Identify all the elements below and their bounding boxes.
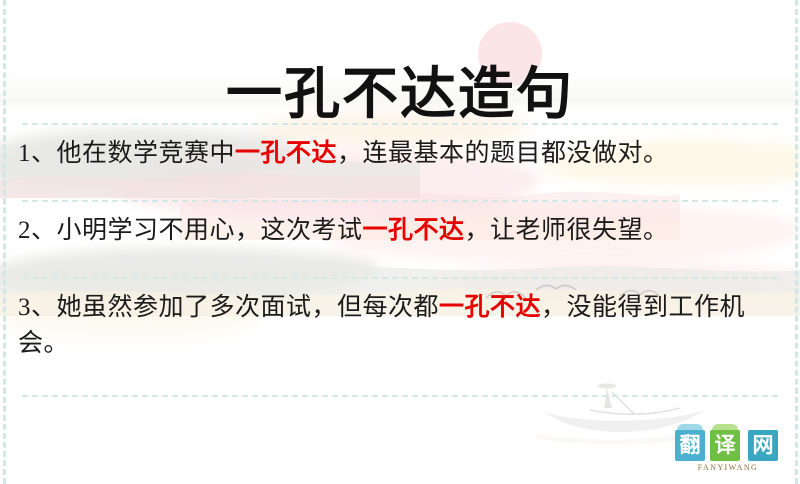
sentence-2-suffix: ，让老师很失望。 bbox=[465, 217, 669, 244]
sentence-1-prefix: 1、他在数学竞赛中 bbox=[18, 140, 235, 167]
sentence-1-suffix: ，连最基本的题目都没做对。 bbox=[337, 140, 669, 167]
divider-rule-4 bbox=[22, 395, 778, 397]
sentence-2-idiom: 一孔不达 bbox=[363, 217, 465, 244]
list-item: 1、他在数学竞赛中一孔不达，连最基本的题目都没做对。 bbox=[18, 136, 784, 172]
logo-caption: FANYIWANG bbox=[672, 463, 784, 472]
site-logo[interactable]: 翻 译 网 FANYIWANG bbox=[672, 428, 784, 476]
sentence-list: 1、他在数学竞赛中一孔不达，连最基本的题目都没做对。 2、小明学习不用心，这次考… bbox=[18, 136, 784, 362]
list-item: 3、她虽然参加了多次面试，但每次都一孔不达，没能得到工作机会。 bbox=[18, 290, 784, 362]
sentence-1-idiom: 一孔不达 bbox=[235, 140, 337, 167]
logo-char-fan: 翻 bbox=[675, 430, 705, 461]
logo-char-wang: 网 bbox=[748, 430, 778, 461]
sentence-3-idiom: 一孔不达 bbox=[439, 294, 541, 321]
list-item: 2、小明学习不用心，这次考试一孔不达，让老师很失望。 bbox=[18, 213, 784, 249]
page-title: 一孔不达造句 bbox=[0, 62, 800, 129]
logo-mark: 翻 译 网 bbox=[672, 428, 784, 464]
sentence-2-prefix: 2、小明学习不用心，这次考试 bbox=[18, 217, 363, 244]
sentence-3-prefix: 3、她虽然参加了多次面试，但每次都 bbox=[18, 294, 439, 321]
page-root: 一孔不达造句 1、他在数学竞赛中一孔不达，连最基本的题目都没做对。 2、小明学习… bbox=[0, 0, 800, 484]
logo-char-yi: 译 bbox=[710, 430, 740, 461]
